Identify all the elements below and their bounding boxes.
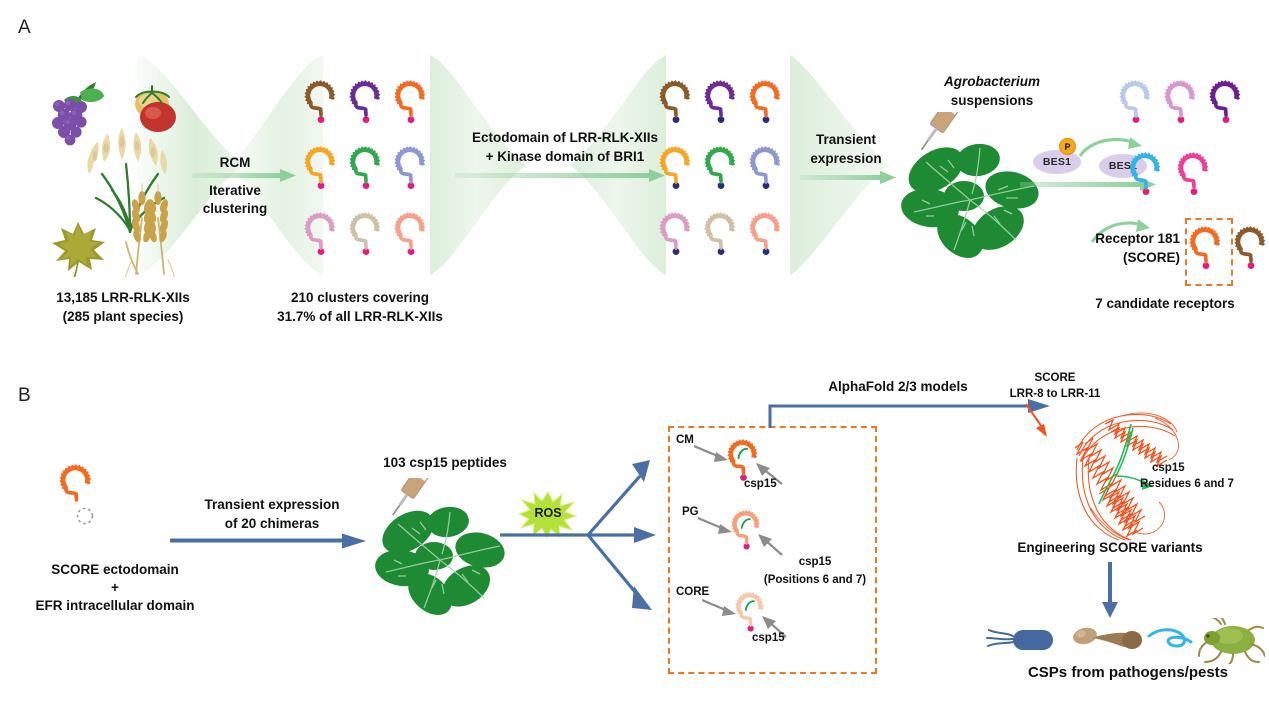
csp-caption: CSPs from pathogens/pests [988, 664, 1268, 682]
nematode-icon [1149, 630, 1191, 646]
wheat-icon [125, 184, 175, 277]
candidate-receptor-glyph [1208, 78, 1245, 142]
agrobacterium-label-line2: suspensions [922, 93, 1062, 109]
receptor181-label-line2: (SCORE) [1058, 250, 1180, 266]
alphafold-label: AlphaFold 2/3 models [808, 379, 988, 395]
panelA-clusters-caption-line2: 31.7% of all LRR-RLK-XIIs [234, 309, 486, 325]
candidates-caption: 7 candidate receptors [1065, 296, 1265, 312]
fungus-icon [1072, 626, 1142, 649]
receptor-glyph [303, 210, 340, 274]
receptor-glyph [703, 210, 740, 274]
branching-blue-arrows [500, 458, 680, 648]
candidate-receptor-glyph [1163, 78, 1200, 142]
aphid-icon [1199, 618, 1265, 664]
green-arrow-1 [192, 168, 302, 184]
receptor-glyph [393, 210, 430, 274]
receptor-glyph [748, 78, 785, 142]
receptor-glyph [658, 210, 695, 274]
nicotiana-plant-a-icon [900, 112, 1060, 272]
efr-intracellular-domain-dashed-circle [74, 506, 96, 530]
receptor-glyph [348, 144, 385, 208]
structure-annot-line2: Residues 6 and 7 [1140, 478, 1269, 492]
engineering-down-arrow [1098, 562, 1124, 618]
structure-pointer-arrow-icon [1022, 402, 1052, 440]
candidate-receptor-glyph [1233, 224, 1269, 288]
arrow1-label-iterative: Iterative [176, 183, 294, 199]
pg-csp15-label-line2: (Positions 6 and 7) [745, 574, 885, 588]
receptor-glyph [748, 144, 785, 208]
panelA-source-caption-line1: 13,185 LRR-RLK-XIIs [8, 290, 238, 306]
cluster-receptor-grid-1 [303, 78, 439, 278]
receptor-glyph [393, 78, 430, 142]
structure-annot-line1: csp15 [1152, 462, 1262, 476]
score-caption-line1: SCORE ectodomain [0, 562, 230, 578]
receptor-glyph [703, 144, 740, 208]
arrow2-label-line1: Ectodomain of LRR-RLK-XIIs [445, 130, 685, 146]
green-arrow-2 [455, 168, 670, 184]
receptor-glyph [658, 78, 695, 142]
receptor-glyph [393, 144, 430, 208]
candidate-receptor-glyph [1118, 78, 1155, 142]
panel-b-letter: B [18, 385, 31, 407]
panel-a-letter: A [18, 17, 31, 39]
pg-csp15-label-line1: csp15 [760, 556, 870, 570]
receptor-glyph [748, 210, 785, 274]
bes1-phosphorylated-pill: BES1 [1033, 150, 1081, 174]
panelA-clusters-caption-line1: 210 clusters covering [240, 290, 480, 306]
score-caption-line2: + [0, 580, 230, 596]
panelA-source-caption-line2: (285 plant species) [8, 309, 238, 325]
cm-csp15-label: csp15 [744, 478, 794, 492]
pg-csp15-pointer-icon [754, 533, 786, 557]
tomato-icon [135, 86, 176, 132]
panelB-arrow1-label-line1: Transient expression [182, 497, 362, 513]
arrow1-label-clustering: clustering [176, 201, 294, 217]
cluster-receptor-grid-2 [658, 78, 794, 278]
alphafold-elbow-arrow [764, 398, 1059, 430]
receptor-glyph [348, 210, 385, 274]
arrow3-label-line2: expression [798, 151, 894, 167]
score-caption-line3: EFR intracellular domain [0, 598, 230, 614]
receptor-glyph [303, 78, 340, 142]
candidate-receptor-glyph [1128, 150, 1165, 214]
core-csp15-label: csp15 [752, 632, 802, 646]
pathogen-pest-icons [985, 618, 1265, 664]
receptor-glyph [303, 144, 340, 208]
receptor-glyph [703, 78, 740, 142]
agrobacterium-label-line1: Agrobacterium [922, 74, 1062, 90]
panelB-arrow1-label-line2: of 20 chimeras [182, 516, 362, 532]
receptor-181-highlight-box [1185, 218, 1233, 286]
grapes-icon [52, 82, 104, 145]
engineering-label: Engineering SCORE variants [1000, 540, 1220, 556]
green-arrow-3 [800, 170, 900, 186]
receptor-glyph [658, 144, 695, 208]
arrow3-label-line1: Transient [798, 132, 894, 148]
blue-arrow-transient-expression [170, 533, 370, 549]
phospho-badge: P [1059, 138, 1076, 155]
arrow2-label-line2: + Kinase domain of BRI1 [445, 149, 685, 165]
maple-leaf-icon [52, 222, 105, 277]
receptor181-label-line1: Receptor 181 [1058, 231, 1180, 247]
structure-label-line1: SCORE [985, 372, 1125, 386]
candidate-receptor-glyph [1176, 150, 1213, 214]
receptor-glyph [348, 78, 385, 142]
bacterium-icon [987, 630, 1053, 650]
